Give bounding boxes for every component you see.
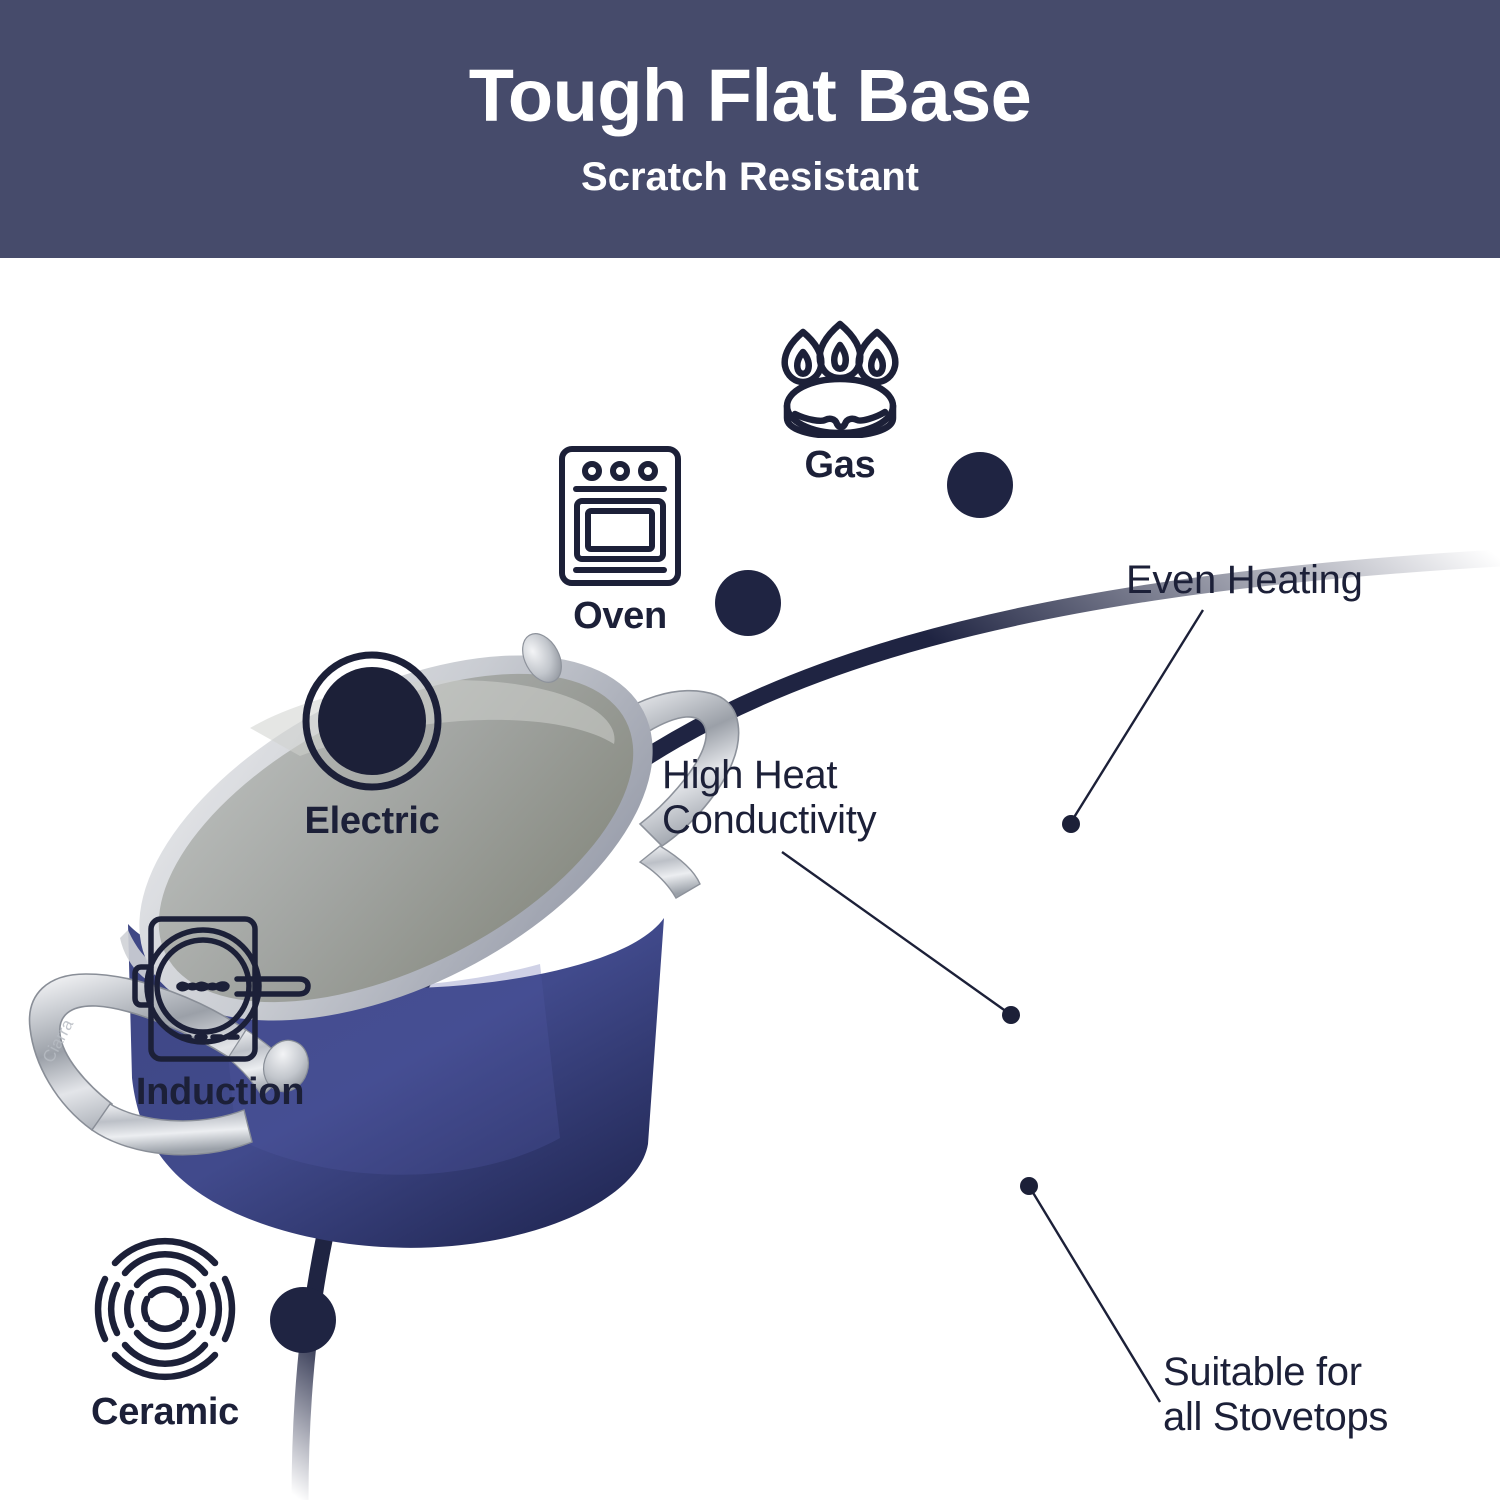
oven-icon — [500, 443, 740, 589]
leader-dot-even-heating — [1062, 815, 1080, 833]
callout-leaders — [782, 610, 1203, 1402]
callout-even-heating-line1: Even Heating — [1126, 558, 1363, 603]
stovetop-label-electric: Electric — [252, 800, 492, 843]
stovetop-label-induction: Induction — [85, 1071, 355, 1114]
diagram-stage: Ciarra — [0, 258, 1500, 1500]
leader-even-heating — [1073, 610, 1203, 819]
leader-dot-high-heat — [1002, 1006, 1020, 1024]
callout-even-heating: Even Heating — [1126, 558, 1363, 603]
leader-dot-suitable — [1020, 1177, 1038, 1195]
stovetop-item-oven[interactable]: Oven — [500, 443, 740, 638]
stovetop-label-gas: Gas — [720, 444, 960, 487]
induction-cooktop-icon — [85, 913, 355, 1065]
header-banner: Tough Flat Base Scratch Resistant — [0, 0, 1500, 258]
leader-suitable — [1032, 1191, 1160, 1402]
page-title: Tough Flat Base — [469, 59, 1032, 133]
stovetop-item-ceramic[interactable]: Ceramic — [30, 1233, 300, 1434]
leader-high-heat — [782, 852, 1007, 1012]
stovetop-item-gas[interactable]: Gas — [720, 318, 960, 487]
callout-high-heat: High Heat Conductivity — [662, 753, 876, 843]
stovetop-item-electric[interactable]: Electric — [252, 648, 492, 843]
stovetop-label-oven: Oven — [500, 595, 740, 638]
callout-suitable-stovetops: Suitable for all Stovetops — [1163, 1350, 1388, 1440]
stovetop-label-ceramic: Ceramic — [30, 1391, 300, 1434]
callout-suitable-line1: Suitable for — [1163, 1350, 1388, 1395]
callout-high-heat-line1: High Heat — [662, 753, 876, 798]
callout-high-heat-line2: Conductivity — [662, 798, 876, 843]
callout-suitable-line2: all Stovetops — [1163, 1395, 1388, 1440]
electric-coil-icon — [252, 648, 492, 794]
page-subtitle: Scratch Resistant — [581, 155, 919, 200]
ceramic-radiant-icon — [30, 1233, 300, 1385]
gas-burner-icon — [720, 318, 960, 438]
infographic-page: Tough Flat Base Scratch Resistant — [0, 0, 1500, 1500]
stovetop-item-induction[interactable]: Induction — [85, 913, 355, 1114]
